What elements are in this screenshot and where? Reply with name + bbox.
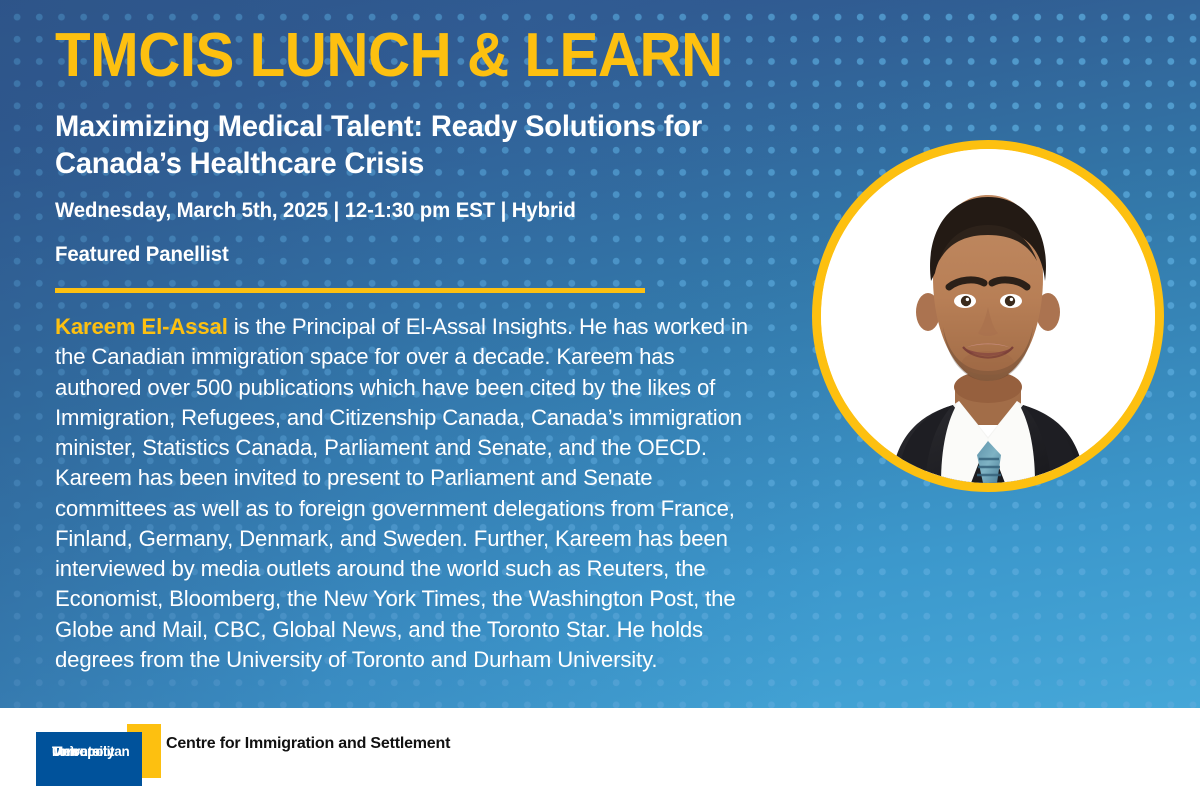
- avatar: [821, 149, 1155, 483]
- centre-name-label: Centre for Immigration and Settlement: [166, 734, 450, 754]
- event-poster: TMCIS LUNCH & LEARN Maximizing Medical T…: [0, 0, 1200, 800]
- logo-line-3: University: [52, 744, 114, 760]
- event-subtitle: Maximizing Medical Talent: Ready Solutio…: [55, 109, 773, 183]
- logo-blue-block: TorontoMetropolitanUniversity: [36, 732, 142, 786]
- divider-rule: [55, 288, 645, 293]
- panellist-name: Kareem El-Assal: [55, 314, 228, 339]
- tmu-logo: TorontoMetropolitanUniversity: [36, 724, 161, 786]
- featured-panellist-label: Featured Panellist: [55, 243, 773, 267]
- panellist-bio-text: is the Principal of El-Assal Insights. H…: [55, 314, 748, 672]
- event-datetime: Wednesday, March 5th, 2025 | 12-1:30 pm …: [55, 199, 773, 223]
- footer-bar: TorontoMetropolitanUniversity Centre for…: [0, 708, 1200, 800]
- panellist-bio: Kareem El-Assal is the Principal of El-A…: [55, 312, 764, 675]
- panellist-photo-frame: [812, 140, 1164, 492]
- poster-content: TMCIS LUNCH & LEARN Maximizing Medical T…: [55, 24, 795, 675]
- page-title: TMCIS LUNCH & LEARN: [55, 24, 751, 87]
- headshot-illustration: [821, 149, 1155, 483]
